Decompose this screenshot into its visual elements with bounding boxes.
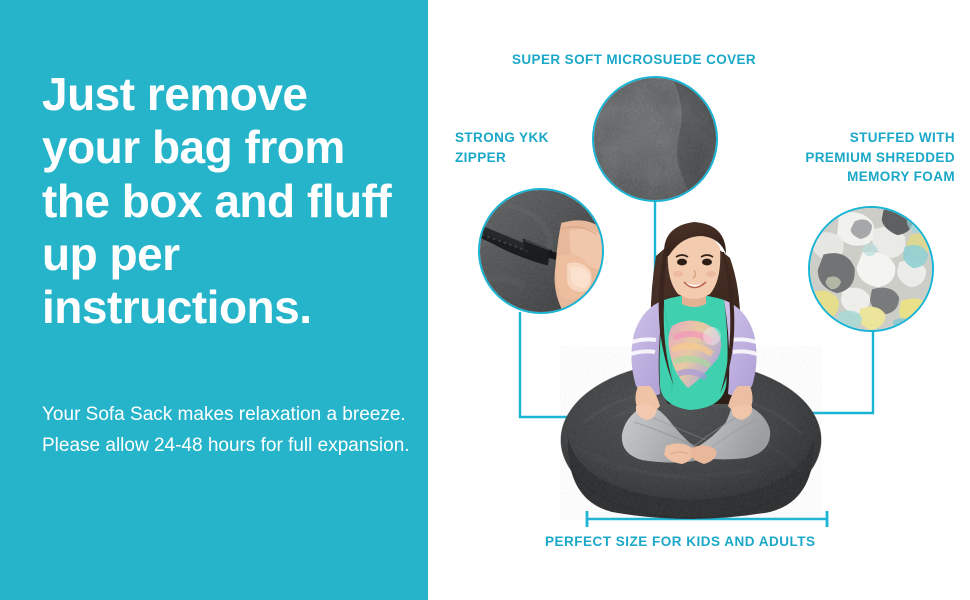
- callout-label-cover: SUPER SOFT MICROSUEDE COVER: [512, 50, 756, 70]
- product-scene: [560, 208, 822, 520]
- detail-circle-memory-foam: [808, 206, 934, 332]
- shredded-foam-image: [810, 208, 932, 330]
- girl-on-bean-bag-illustration: [560, 208, 822, 520]
- detail-circle-microsuede-cover: [592, 76, 718, 202]
- page-subcopy: Your Sofa Sack makes relaxation a breeze…: [42, 400, 410, 462]
- callout-label-foam: STUFFED WITH PREMIUM SHREDDED MEMORY FOA…: [765, 128, 955, 187]
- callout-label-zipper: STRONG YKK ZIPPER: [455, 128, 549, 167]
- left-text-panel: Just remove your bag from the box and fl…: [0, 0, 428, 600]
- size-caption-label: PERFECT SIZE FOR KIDS AND ADULTS: [545, 532, 816, 552]
- page-headline: Just remove your bag from the box and fl…: [42, 68, 412, 335]
- microsuede-fabric-image: [594, 78, 716, 200]
- product-infographic-banner: Just remove your bag from the box and fl…: [0, 0, 970, 600]
